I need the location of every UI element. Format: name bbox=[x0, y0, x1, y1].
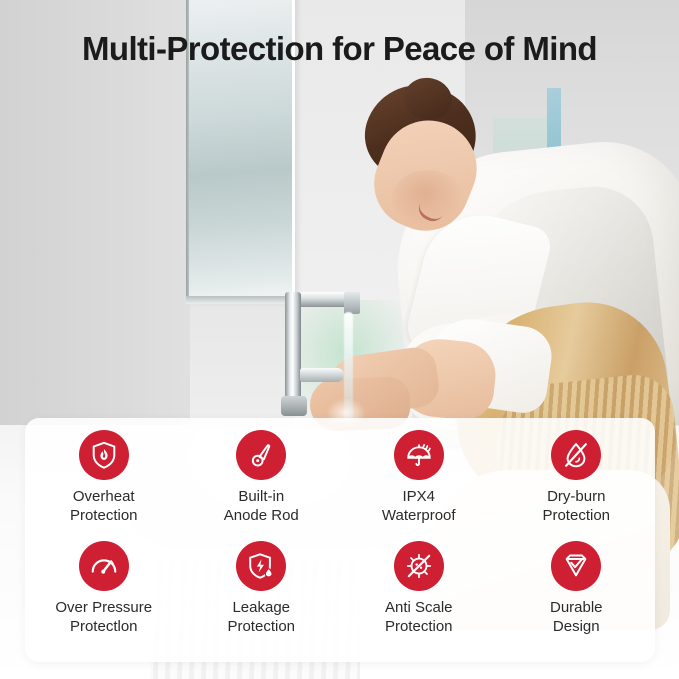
shield-flame-icon bbox=[79, 430, 129, 480]
feature-item-over-pressure-protection: Over Pressure Protectlon bbox=[25, 541, 183, 652]
feature-item-anti-scale-protection: Anti Scale Protection bbox=[340, 541, 498, 652]
feature-label: Over Pressure Protectlon bbox=[55, 598, 152, 636]
feature-item-overheat-protection: Overheat Protection bbox=[25, 430, 183, 541]
feature-label: Built-in Anode Rod bbox=[224, 487, 299, 525]
thermometer-anode-rod-icon bbox=[236, 430, 286, 480]
faucet-body bbox=[285, 292, 301, 412]
feature-label: Anti Scale Protection bbox=[385, 598, 453, 636]
no-water-drop-icon bbox=[551, 430, 601, 480]
product-feature-banner: Multi-Protection for Peace of Mind Overh… bbox=[0, 0, 679, 679]
feature-label: Durable Design bbox=[550, 598, 603, 636]
feature-item-leakage-protection: Leakage Protection bbox=[183, 541, 341, 652]
feature-item-durable-design: Durable Design bbox=[498, 541, 656, 652]
feature-label: IPX4 Waterproof bbox=[382, 487, 456, 525]
faucet-handle bbox=[300, 368, 344, 382]
umbrella-rain-icon bbox=[394, 430, 444, 480]
feature-label: Overheat Protection bbox=[70, 487, 138, 525]
feature-item-dry-burn-protection: Dry-burn Protection bbox=[498, 430, 656, 541]
feature-item-ipx4-waterproof: IPX4 Waterproof bbox=[340, 430, 498, 541]
faucet-aerator bbox=[344, 292, 360, 314]
pressure-gauge-icon bbox=[79, 541, 129, 591]
feature-label: Leakage Protection bbox=[227, 598, 295, 636]
feature-item-built-in-anode-rod: Built-in Anode Rod bbox=[183, 430, 341, 541]
no-scale-germ-icon bbox=[394, 541, 444, 591]
diamond-check-icon bbox=[551, 541, 601, 591]
faucet-base bbox=[281, 396, 307, 416]
shield-bolt-leak-icon bbox=[236, 541, 286, 591]
mirror-base bbox=[186, 296, 298, 304]
feature-grid: Overheat Protection Built-in Anode Rod bbox=[25, 418, 655, 662]
feature-label: Dry-burn Protection bbox=[542, 487, 610, 525]
page-title: Multi-Protection for Peace of Mind bbox=[0, 30, 679, 68]
